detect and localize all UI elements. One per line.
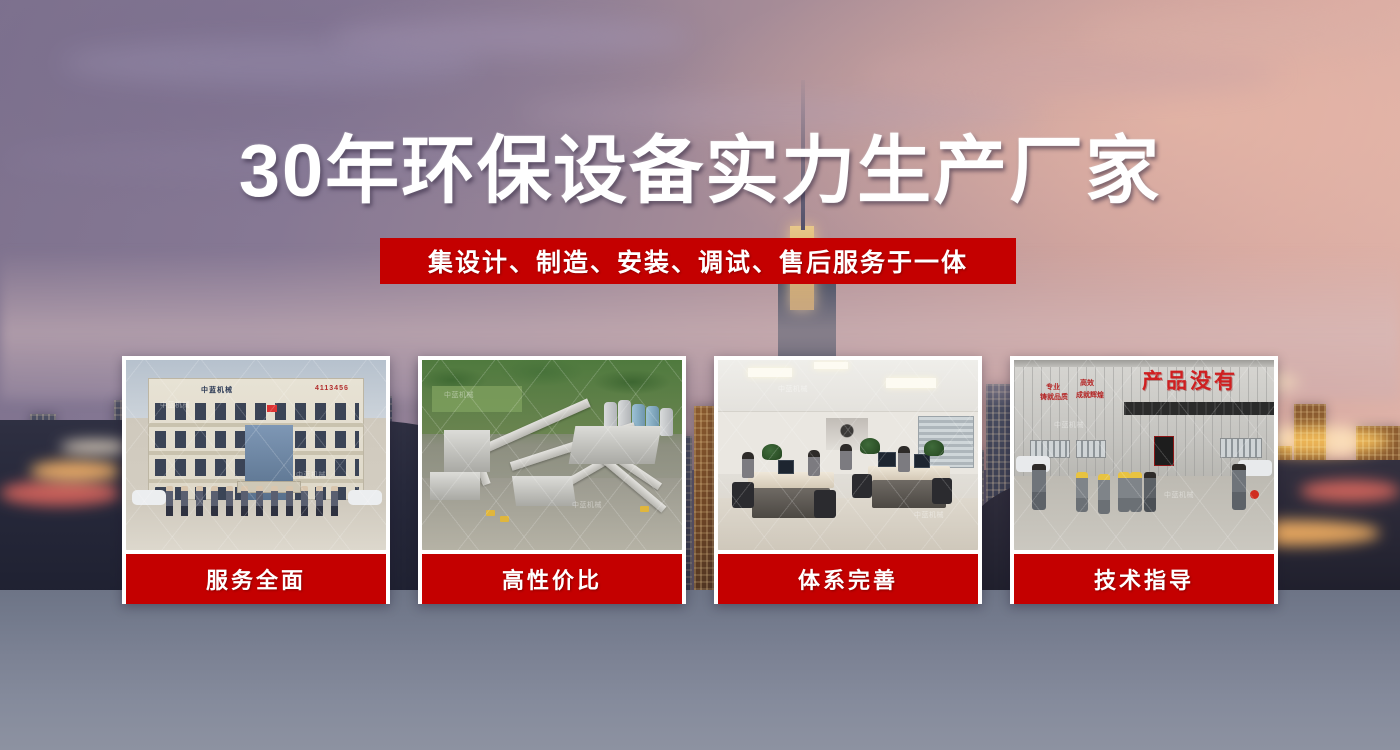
feature-card[interactable]: 中蓝机械 4113456 [122,356,390,604]
card-photo-plant-aerial: 中蓝机械 中蓝机械 [422,360,682,550]
cloud [330,18,690,56]
factory-slogan: 高效 [1080,378,1094,388]
feature-card[interactable]: 中蓝机械 中蓝机械 体系完善 [714,356,982,604]
page-title: 30年环保设备实力生产厂家 [0,132,1400,210]
factory-slogan: 成就辉煌 [1076,390,1104,400]
card-caption-text: 体系完善 [798,563,898,595]
factory-slogan: 铸就品质 [1040,392,1068,402]
feature-card[interactable]: 中蓝机械 中蓝机械 高性价比 [418,356,686,604]
subtitle-banner: 集设计、制造、安装、调试、售后服务于一体 [380,238,1016,284]
building-signage: 中蓝机械 [201,385,233,395]
card-caption-bar: 技术指导 [1014,554,1274,604]
subtitle-text: 集设计、制造、安装、调试、售后服务于一体 [428,243,968,279]
feature-card[interactable]: 产品没有 专业 高效 铸就品质 成就辉煌 [1010,356,1278,604]
card-photo-office-building: 中蓝机械 4113456 [126,360,386,550]
card-caption-text: 高性价比 [502,563,602,595]
card-photo-office-interior: 中蓝机械 中蓝机械 [718,360,978,550]
building-phone-number: 4113456 [315,385,349,392]
factory-signage: 产品没有 [1142,365,1238,395]
card-caption-text: 服务全面 [206,563,306,595]
card-photo-workers-training: 产品没有 专业 高效 铸就品质 成就辉煌 [1014,360,1274,550]
card-caption-bar: 高性价比 [422,554,682,604]
cloud [1080,16,1400,52]
card-caption-bar: 体系完善 [718,554,978,604]
factory-slogan: 专业 [1046,382,1060,392]
card-caption-bar: 服务全面 [126,554,386,604]
water-reflection [0,590,1400,750]
cloud [520,96,1040,130]
banner-stage: 30年环保设备实力生产厂家 集设计、制造、安装、调试、售后服务于一体 中蓝机械 … [0,0,1400,750]
cloud [860,52,1280,96]
feature-card-row: 中蓝机械 4113456 [122,356,1278,604]
card-caption-text: 技术指导 [1094,563,1194,595]
